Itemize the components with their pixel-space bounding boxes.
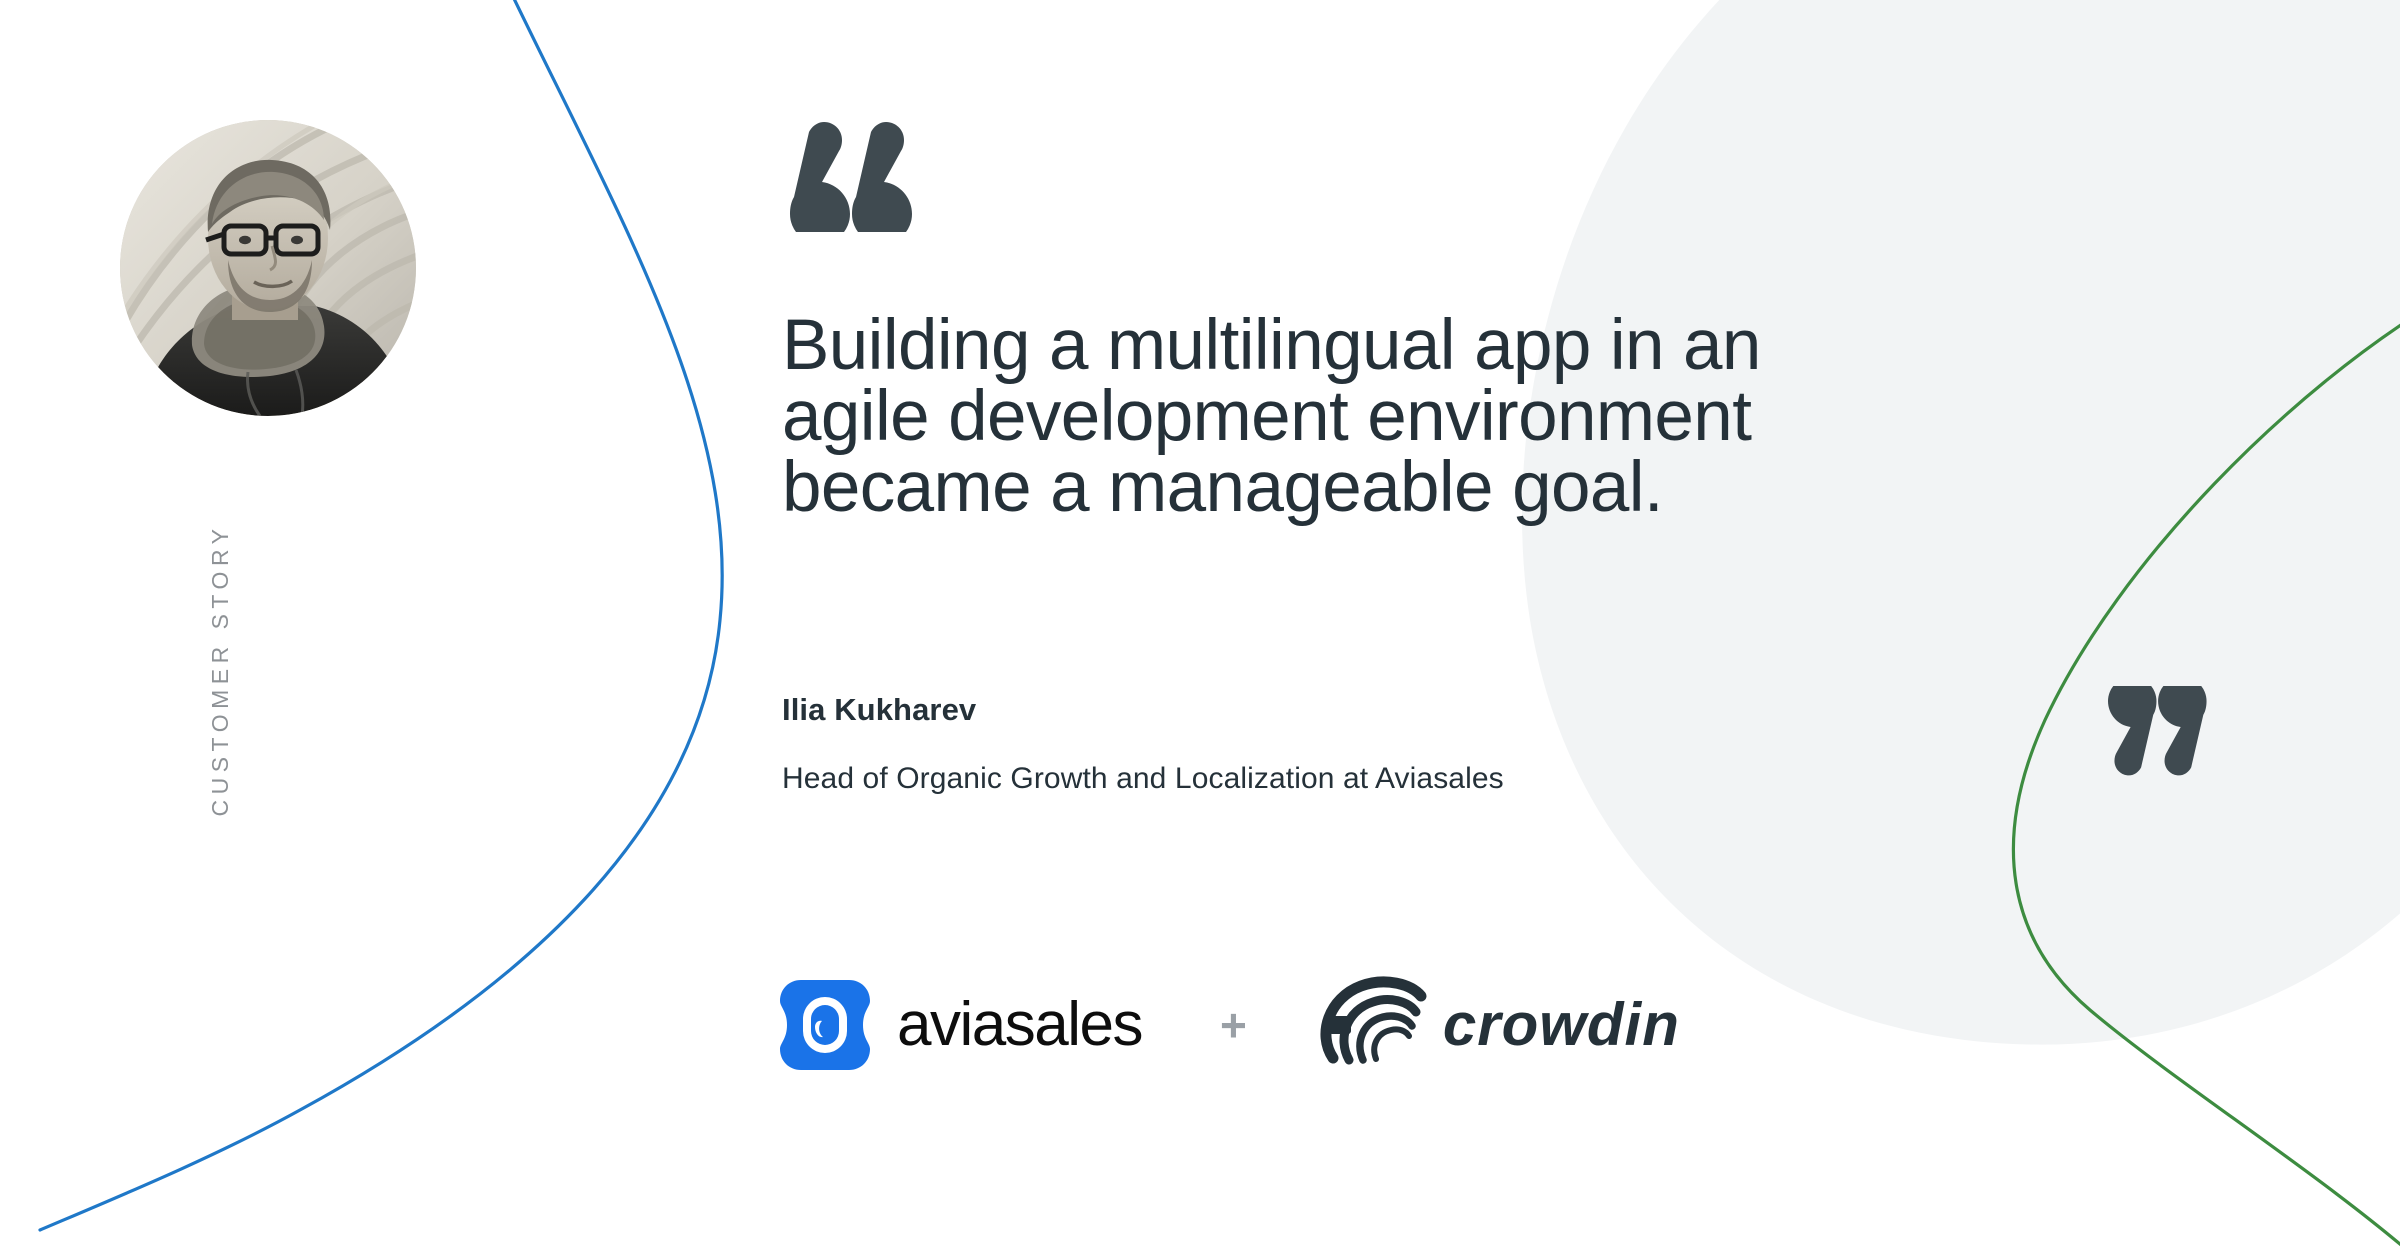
logo-row: aviasales + crowdin [775, 965, 1680, 1085]
quote-text: Building a multilingual app in an agile … [782, 310, 1962, 523]
aviasales-logo: aviasales [775, 975, 1142, 1075]
aviasales-wordmark: aviasales [897, 994, 1142, 1056]
quote-line-2: agile development environment [782, 381, 1962, 452]
close-quote-icon [2108, 686, 2213, 776]
crowdin-logo: crowdin [1315, 972, 1680, 1078]
author-name: Ilia Kukharev [782, 692, 976, 728]
avatar [120, 120, 416, 416]
author-role: Head of Organic Growth and Localization … [782, 762, 1504, 796]
quote-line-3: became a manageable goal. [782, 452, 1962, 523]
quote-line-1: Building a multilingual app in an [782, 310, 1962, 381]
customer-story-card: CUSTOMER STORY [0, 0, 2400, 1260]
crowdin-arcs-icon [1315, 972, 1427, 1078]
aviasales-window-icon [775, 975, 875, 1075]
plus-separator: + [1220, 1002, 1247, 1048]
crowdin-wordmark: crowdin [1443, 995, 1680, 1055]
open-quote-icon [782, 122, 912, 232]
portrait-photo [120, 120, 416, 416]
